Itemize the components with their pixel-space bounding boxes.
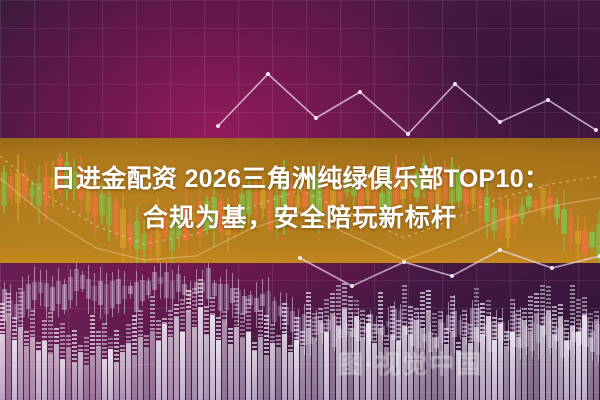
watermark-text: 图·视觉中国	[338, 345, 568, 379]
banner-image: 日进金配资 2026三角洲纯绿俱乐部TOP10： 合规为基，安全陪玩新标杆 图·…	[0, 0, 600, 400]
headline-line-1: 日进金配资 2026三角洲纯绿俱乐部TOP10：	[0, 160, 600, 199]
trendline-vertex	[550, 266, 554, 270]
trendline-vertex	[402, 260, 406, 264]
trendline-vertex	[350, 284, 354, 288]
trendline-vertex	[498, 248, 502, 252]
trendline-vertex	[450, 274, 454, 278]
headline-text: 日进金配资 2026三角洲纯绿俱乐部TOP10： 合规为基，安全陪玩新标杆	[0, 160, 600, 238]
trendline-vertex	[298, 256, 302, 260]
headline-line-2: 合规为基，安全陪玩新标杆	[0, 199, 600, 238]
